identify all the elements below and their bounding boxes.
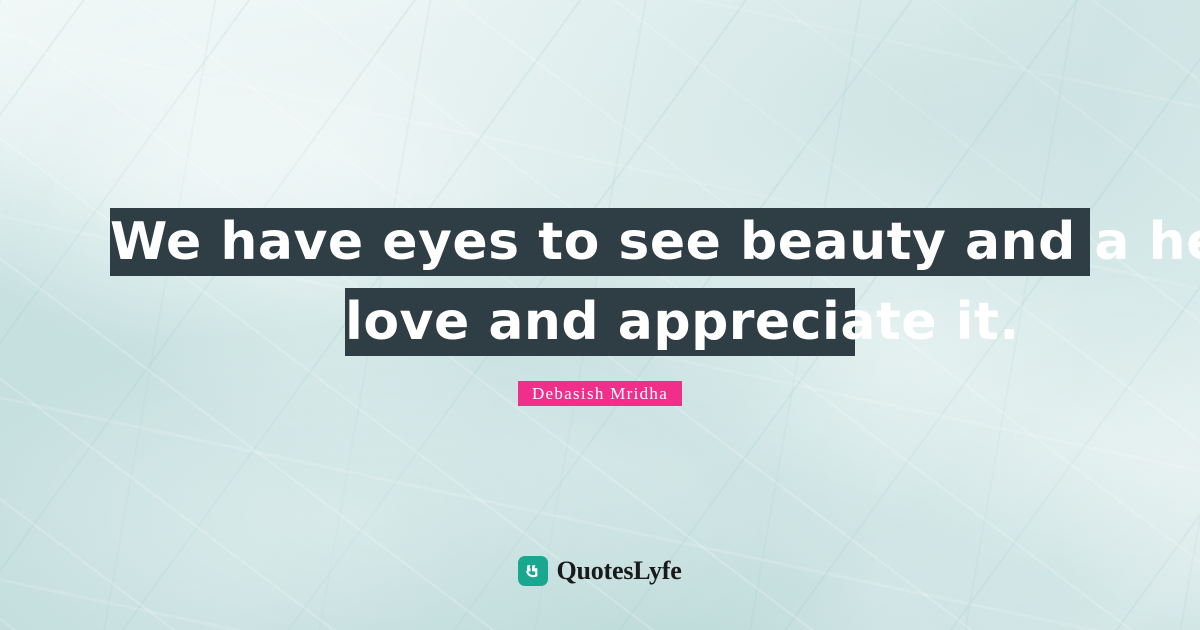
author-attribution: Debasish Mridha xyxy=(0,381,1200,406)
brand-logo[interactable]: QuotesLyfe xyxy=(0,556,1200,586)
quote-smiley-icon xyxy=(518,556,548,586)
quote-card: We have eyes to see beauty and a heart t… xyxy=(0,0,1200,630)
quote-line-2: love and appreciate it. xyxy=(345,288,855,356)
quote-text: We have eyes to see beauty and a heart t… xyxy=(0,208,1200,356)
author-name[interactable]: Debasish Mridha xyxy=(518,381,682,406)
brand-name: QuotesLyfe xyxy=(556,556,681,586)
quote-line-1: We have eyes to see beauty and a heart t… xyxy=(110,208,1090,276)
